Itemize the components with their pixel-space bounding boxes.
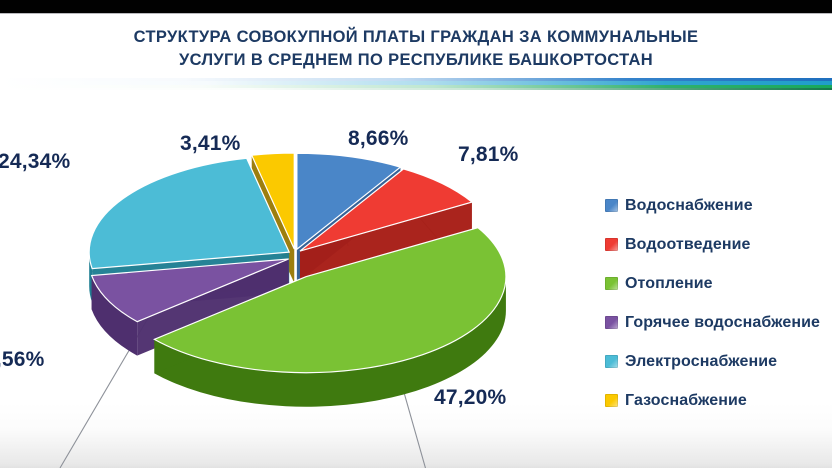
page-title-line-2: УСЛУГИ В СРЕДНЕМ ПО РЕСПУБЛИКЕ БАШКОРТОС… <box>0 49 832 72</box>
legend-item-label: Газоснабжение <box>625 392 747 410</box>
page-title: СТРУКТУРА СОВОКУПНОЙ ПЛАТЫ ГРАЖДАН ЗА КО… <box>0 26 832 72</box>
decorative-gradient-band <box>0 76 832 94</box>
legend-item-label: Электроснабжение <box>625 353 777 371</box>
legend-item-1[interactable]: Водоотведение <box>605 225 832 264</box>
legend-item-label: Водоотведение <box>625 236 751 254</box>
legend-item-5[interactable]: Газоснабжение <box>605 381 832 420</box>
slide-canvas: СТРУКТУРА СОВОКУПНОЙ ПЛАТЫ ГРАЖДАН ЗА КО… <box>0 0 832 468</box>
top-bar-edge <box>0 13 832 14</box>
band-line-dark-green <box>0 88 832 90</box>
top-black-bar <box>0 0 832 13</box>
legend-item-label: Горячее водоснабжение <box>625 314 820 332</box>
pct-vodosnabzhenie: 8,66% <box>348 127 409 151</box>
legend-item-label: Водоснабжение <box>625 197 753 215</box>
legend-swatch-icon <box>605 277 618 290</box>
legend-item-2[interactable]: Отопление <box>605 264 832 303</box>
legend-swatch-icon <box>605 238 618 251</box>
pct-vodootvedenie: 7,81% <box>458 143 519 167</box>
legend-swatch-icon <box>605 394 618 407</box>
pct-elektro: 24,34% <box>0 150 70 174</box>
legend-item-label: Отопление <box>625 275 713 293</box>
page-title-line-1: СТРУКТУРА СОВОКУПНОЙ ПЛАТЫ ГРАЖДАН ЗА КО… <box>0 26 832 49</box>
chart-legend: ВодоснабжениеВодоотведениеОтоплениеГоряч… <box>605 186 832 420</box>
legend-swatch-icon <box>605 199 618 212</box>
legend-swatch-icon <box>605 355 618 368</box>
legend-item-3[interactable]: Горячее водоснабжение <box>605 303 832 342</box>
legend-item-0[interactable]: Водоснабжение <box>605 186 832 225</box>
pct-gaz: 3,41% <box>180 132 241 156</box>
pct-goryachee: 8,56% <box>0 348 45 372</box>
legend-item-4[interactable]: Электроснабжение <box>605 342 832 381</box>
legend-swatch-icon <box>605 316 618 329</box>
pct-otoplenie: 47,20% <box>434 386 506 410</box>
